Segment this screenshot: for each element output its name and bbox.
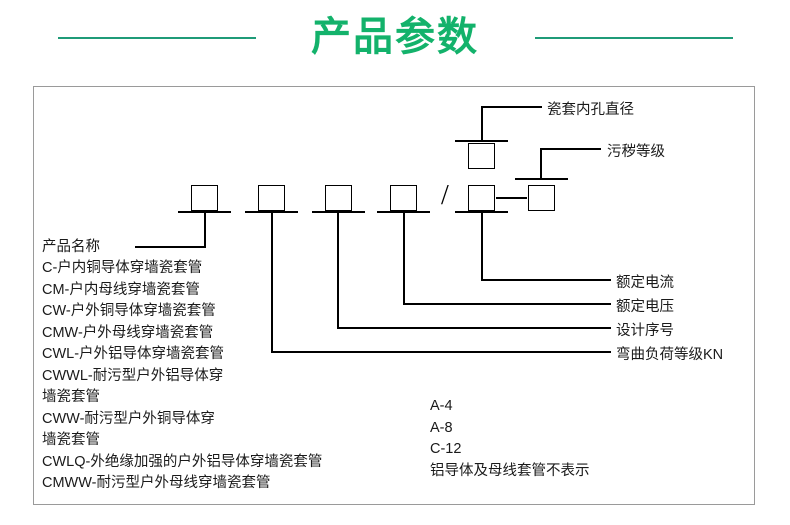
box-pollution-level bbox=[528, 185, 555, 211]
label-pollution-level: 污秽等级 bbox=[607, 140, 665, 161]
box-product-name bbox=[191, 185, 218, 211]
box-bending-load bbox=[258, 185, 285, 211]
label-rated-current: 额定电流 bbox=[616, 271, 674, 292]
connector-dash bbox=[496, 197, 527, 199]
box-design-serial bbox=[325, 185, 352, 211]
leader-pollution-vertical bbox=[540, 148, 542, 179]
box-bore-diameter bbox=[468, 143, 495, 169]
list-item: 墙瓷套管 bbox=[42, 387, 382, 409]
leader-pollution-horizontal bbox=[540, 148, 601, 150]
page-header: 产品参数 bbox=[0, 0, 790, 78]
leader-bore-diameter-horizontal bbox=[481, 106, 542, 108]
list-item: CW-户外铜导体穿墙瓷套管 bbox=[42, 301, 382, 323]
leader-rated-current-vertical bbox=[481, 211, 483, 280]
list-item: 铝导体及母线套管不表示 bbox=[430, 461, 590, 483]
leader-bore-diameter-vertical bbox=[481, 106, 483, 141]
list-item: CM-户内母线穿墙瓷套管 bbox=[42, 280, 382, 302]
pollution-grade-list: A-4 A-8 C-12 铝导体及母线套管不表示 bbox=[430, 396, 590, 482]
leader-product-name-horizontal bbox=[135, 246, 205, 248]
list-item: A-4 bbox=[430, 396, 590, 418]
separator-slash: / bbox=[441, 182, 449, 210]
leader-product-name-vertical bbox=[204, 211, 206, 248]
label-bore-diameter: 瓷套内孔直径 bbox=[547, 98, 634, 119]
list-item: CMWW-耐污型户外母线穿墙瓷套管 bbox=[42, 473, 382, 495]
product-code-list: C-户内铜导体穿墙瓷套管 CM-户内母线穿墙瓷套管 CW-户外铜导体穿墙瓷套管 … bbox=[42, 258, 382, 495]
list-item: CWWL-耐污型户外铝导体穿 bbox=[42, 366, 382, 388]
list-item: CWL-户外铝导体穿墙瓷套管 bbox=[42, 344, 382, 366]
box-rated-current bbox=[468, 185, 495, 211]
leader-rated-voltage-horizontal bbox=[403, 303, 611, 305]
list-item: C-12 bbox=[430, 439, 590, 461]
list-item: CMW-户外母线穿墙瓷套管 bbox=[42, 323, 382, 345]
list-item: CWW-耐污型户外铜导体穿 bbox=[42, 409, 382, 431]
list-item: A-8 bbox=[430, 418, 590, 440]
label-bending-load: 弯曲负荷等级KN bbox=[616, 343, 723, 364]
title-rule-right bbox=[535, 37, 733, 39]
list-item: CWLQ-外绝缘加强的户外铝导体穿墙瓷套管 bbox=[42, 452, 382, 474]
product-name-label: 产品名称 bbox=[42, 238, 100, 257]
list-item: C-户内铜导体穿墙瓷套管 bbox=[42, 258, 382, 280]
list-item: 墙瓷套管 bbox=[42, 430, 382, 452]
leader-rated-voltage-vertical bbox=[403, 211, 405, 304]
leader-rated-current-horizontal bbox=[481, 279, 611, 281]
box-rated-voltage bbox=[390, 185, 417, 211]
label-design-serial: 设计序号 bbox=[616, 319, 674, 340]
label-rated-voltage: 额定电压 bbox=[616, 295, 674, 316]
